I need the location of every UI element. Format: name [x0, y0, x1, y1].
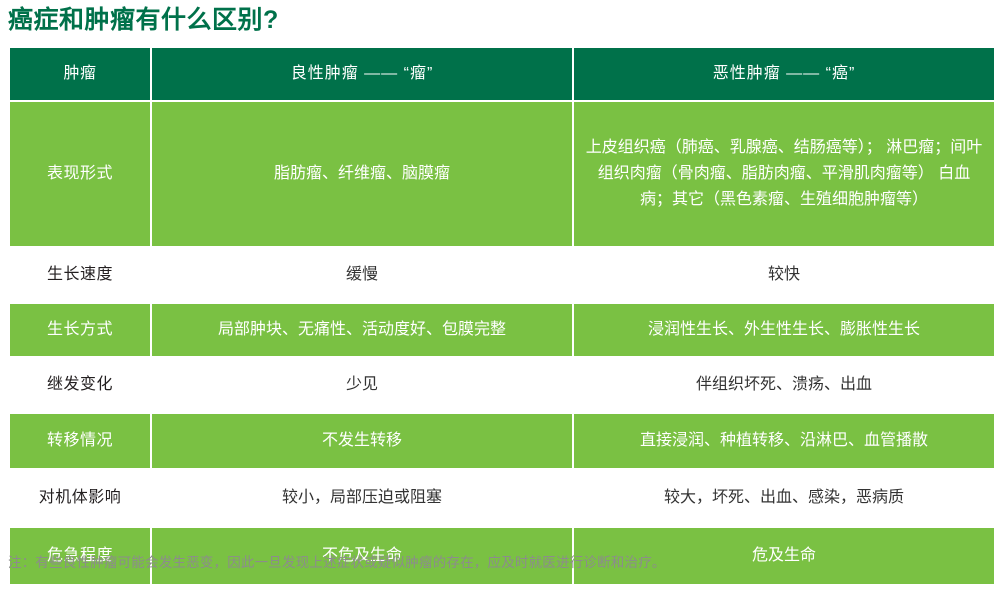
table-row: 表现形式 脂肪瘤、纤维瘤、脑膜瘤 上皮组织癌（肺癌、乳腺癌、结肠癌等）； 淋巴瘤…	[10, 102, 994, 246]
row-label-manifestation: 表现形式	[10, 102, 150, 246]
table-row: 转移情况 不发生转移 直接浸润、种植转移、沿淋巴、血管播散	[10, 414, 994, 468]
cell-benign-growth-mode: 局部肿块、无痛性、活动度好、包膜完整	[152, 304, 572, 356]
row-label-body-effect: 对机体影响	[10, 470, 150, 526]
table-header-row: 肿瘤 良性肿瘤 —— “瘤” 恶性肿瘤 —— “癌”	[10, 48, 994, 100]
column-header-malignant: 恶性肿瘤 —— “癌”	[574, 48, 994, 100]
cell-benign-secondary-change: 少见	[152, 358, 572, 412]
cell-malignant-manifestation: 上皮组织癌（肺癌、乳腺癌、结肠癌等）； 淋巴瘤；间叶组织肉瘤（骨肉瘤、脂肪肉瘤、…	[574, 102, 994, 246]
table-row: 生长速度 缓慢 较快	[10, 248, 994, 302]
row-label-growth-speed: 生长速度	[10, 248, 150, 302]
tumor-comparison-table: 肿瘤 良性肿瘤 —— “瘤” 恶性肿瘤 —— “癌” 表现形式 脂肪瘤、纤维瘤、…	[8, 46, 996, 586]
page-title: 癌症和肿瘤有什么区别?	[8, 2, 968, 38]
table-row: 继发变化 少见 伴组织坏死、溃疡、出血	[10, 358, 994, 412]
row-label-metastasis: 转移情况	[10, 414, 150, 468]
cell-benign-manifestation: 脂肪瘤、纤维瘤、脑膜瘤	[152, 102, 572, 246]
column-header-benign: 良性肿瘤 —— “瘤”	[152, 48, 572, 100]
comparison-table-container: 肿瘤 良性肿瘤 —— “瘤” 恶性肿瘤 —— “癌” 表现形式 脂肪瘤、纤维瘤、…	[8, 46, 992, 586]
cell-malignant-growth-speed: 较快	[574, 248, 994, 302]
cell-benign-body-effect: 较小，局部压迫或阻塞	[152, 470, 572, 526]
cell-benign-growth-speed: 缓慢	[152, 248, 572, 302]
table-row: 生长方式 局部肿块、无痛性、活动度好、包膜完整 浸润性生长、外生性生长、膨胀性生…	[10, 304, 994, 356]
column-header-category: 肿瘤	[10, 48, 150, 100]
infographic-page: 癌症和肿瘤有什么区别? 肿瘤 良性肿瘤 —— “瘤” 恶性肿瘤 —— “癌” 表…	[0, 0, 1000, 599]
row-label-growth-mode: 生长方式	[10, 304, 150, 356]
cell-malignant-body-effect: 较大，坏死、出血、感染，恶病质	[574, 470, 994, 526]
footnote-text: 注：有些良性肿瘤可能会发生恶变，因此一旦发现上述症状或疑似肿瘤的存在，应及时就医…	[8, 552, 988, 574]
cell-benign-metastasis: 不发生转移	[152, 414, 572, 468]
cell-malignant-growth-mode: 浸润性生长、外生性生长、膨胀性生长	[574, 304, 994, 356]
cell-malignant-secondary-change: 伴组织坏死、溃疡、出血	[574, 358, 994, 412]
cell-malignant-metastasis: 直接浸润、种植转移、沿淋巴、血管播散	[574, 414, 994, 468]
table-row: 对机体影响 较小，局部压迫或阻塞 较大，坏死、出血、感染，恶病质	[10, 470, 994, 526]
row-label-secondary-change: 继发变化	[10, 358, 150, 412]
